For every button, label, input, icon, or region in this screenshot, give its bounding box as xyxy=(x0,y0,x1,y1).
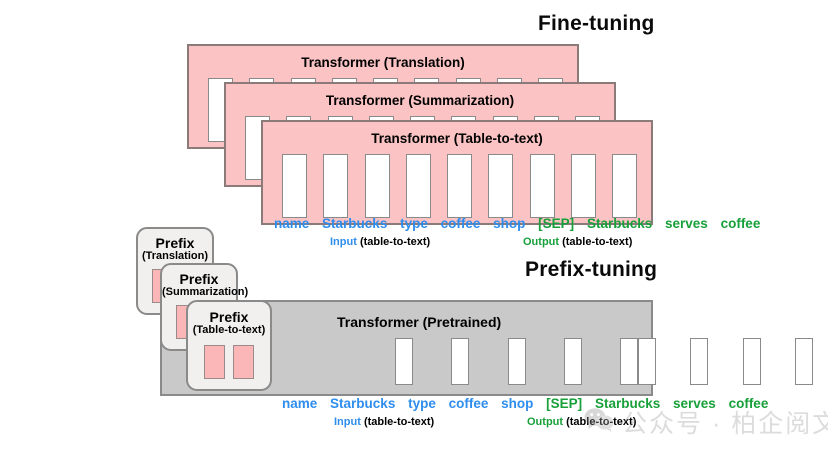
output-token: coffee xyxy=(729,396,769,411)
input-token: coffee xyxy=(449,396,489,411)
prefix-tuning-title: Prefix-tuning xyxy=(525,258,657,282)
token-cell xyxy=(406,154,431,218)
prefix-label-line1: Prefix xyxy=(138,236,212,251)
output-caption-value: (table-to-text) xyxy=(559,236,632,248)
input-caption-key: Input xyxy=(330,236,357,248)
token-cell xyxy=(282,154,307,218)
input-token: type xyxy=(400,216,428,231)
transformer-box-table-to-text-label: Transformer (Table-to-text) xyxy=(263,131,651,146)
token-cell-row-pretrained-output xyxy=(638,338,813,385)
token-labels-fine-tuning: name Starbucks type coffee shop [SEP] St… xyxy=(274,216,760,231)
output-caption-key: Output xyxy=(527,416,563,428)
prefix-box-table-to-text-label: Prefix (Table-to-text) xyxy=(188,310,270,336)
prefix-label-line2: (Summarization) xyxy=(162,287,236,299)
prefix-label-line2: (Translation) xyxy=(138,251,212,263)
input-token: type xyxy=(408,396,436,411)
token-cell xyxy=(323,154,348,218)
prefix-bar xyxy=(233,345,254,379)
token-cell xyxy=(395,338,413,385)
output-token: coffee xyxy=(721,216,761,231)
token-cell xyxy=(620,338,638,385)
separator-token: [SEP] xyxy=(538,216,574,231)
output-token: serves xyxy=(665,216,708,231)
token-cell-row-table-to-text xyxy=(282,154,637,218)
input-caption-fine-tuning: Input (table-to-text) xyxy=(330,236,430,248)
token-cell xyxy=(447,154,472,218)
token-cell xyxy=(690,338,708,385)
prefix-box-translation-label: Prefix (Translation) xyxy=(138,236,212,262)
input-token: name xyxy=(274,216,309,231)
output-caption-value: (table-to-text) xyxy=(563,416,636,428)
input-token: Starbucks xyxy=(330,396,395,411)
output-token: Starbucks xyxy=(587,216,652,231)
token-cell xyxy=(612,154,637,218)
input-caption-value: (table-to-text) xyxy=(357,236,430,248)
token-cell xyxy=(488,154,513,218)
token-cell xyxy=(743,338,761,385)
input-token: name xyxy=(282,396,317,411)
token-cell xyxy=(638,338,656,385)
input-caption-prefix-tuning: Input (table-to-text) xyxy=(334,416,434,428)
token-cell xyxy=(571,154,596,218)
prefix-bars-table-to-text xyxy=(204,345,254,379)
output-caption-prefix-tuning: Output (table-to-text) xyxy=(527,416,636,428)
figure-canvas: Fine-tuning Transformer (Translation) Tr… xyxy=(0,0,828,452)
transformer-box-pretrained-label: Transformer (Pretrained) xyxy=(337,314,501,330)
input-caption-value: (table-to-text) xyxy=(361,416,434,428)
transformer-box-translation-label: Transformer (Translation) xyxy=(189,55,577,70)
fine-tuning-title: Fine-tuning xyxy=(538,12,655,36)
prefix-box-table-to-text: Prefix (Table-to-text) xyxy=(186,300,272,391)
prefix-label-line1: Prefix xyxy=(188,310,270,325)
input-token: Starbucks xyxy=(322,216,387,231)
output-caption-fine-tuning: Output (table-to-text) xyxy=(523,236,632,248)
output-token: Starbucks xyxy=(595,396,660,411)
input-token: shop xyxy=(501,396,533,411)
token-cell xyxy=(795,338,813,385)
token-cell xyxy=(530,154,555,218)
token-cell-row-pretrained-input xyxy=(395,338,638,385)
prefix-label-line1: Prefix xyxy=(162,272,236,287)
token-cell xyxy=(564,338,582,385)
prefix-label-line2: (Table-to-text) xyxy=(188,325,270,337)
token-cell xyxy=(508,338,526,385)
output-token: serves xyxy=(673,396,716,411)
input-token: shop xyxy=(493,216,525,231)
separator-token: [SEP] xyxy=(546,396,582,411)
input-caption-key: Input xyxy=(334,416,361,428)
input-token: coffee xyxy=(441,216,481,231)
prefix-bar xyxy=(204,345,225,379)
token-labels-prefix-tuning: name Starbucks type coffee shop [SEP] St… xyxy=(282,396,768,411)
token-cell xyxy=(451,338,469,385)
token-cell xyxy=(365,154,390,218)
output-caption-key: Output xyxy=(523,236,559,248)
prefix-box-summarization-label: Prefix (Summarization) xyxy=(162,272,236,298)
transformer-box-table-to-text: Transformer (Table-to-text) xyxy=(261,120,653,225)
transformer-box-summarization-label: Transformer (Summarization) xyxy=(226,93,614,108)
